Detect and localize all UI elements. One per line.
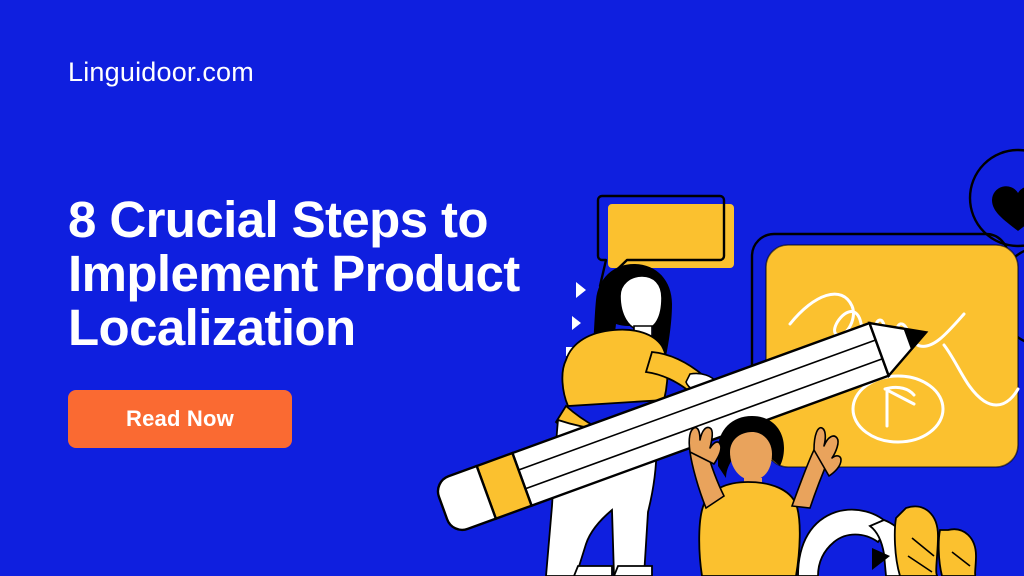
page-title: 8 Crucial Steps to Implement Product Loc… — [68, 193, 608, 355]
content-layer: Linguidoor.com 8 Crucial Steps to Implem… — [0, 0, 1024, 576]
read-now-button[interactable]: Read Now — [68, 390, 292, 448]
brand-logo[interactable]: Linguidoor.com — [68, 57, 254, 88]
promo-banner: Linguidoor.com 8 Crucial Steps to Implem… — [0, 0, 1024, 576]
